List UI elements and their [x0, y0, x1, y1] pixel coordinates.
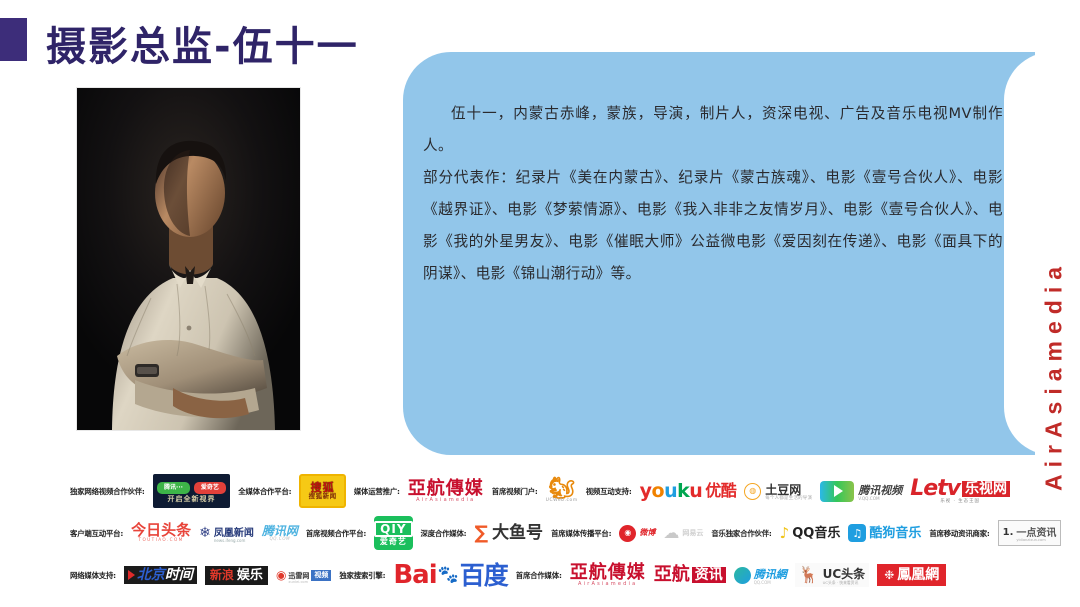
logo-letv-en: Letv	[910, 478, 960, 500]
slide-root: 摄影总监-伍十一	[0, 0, 1080, 607]
partner-row-3: 网络媒体支持: 北京 时间 新浪 娱乐 ◉ 迅雷网 xunlei.com 视频 …	[70, 554, 1010, 596]
phoenix-circle-icon: ❉	[884, 569, 894, 581]
logo-qq-net-row3[interactable]: 腾讯網 QQ.COM	[734, 565, 787, 585]
logo-ifeng[interactable]: ❉ 鳳凰網	[877, 564, 946, 586]
partner-caption: 首席视频合作平台:	[306, 528, 366, 539]
partner-caption: 首席媒体传播平台:	[551, 528, 611, 539]
logo-airasiamedia-subtitle: AirAsiamedia	[416, 498, 475, 503]
bio-paragraph-2: 部分代表作：纪录片《美在内蒙古》、纪录片《蒙古族魂》、电影《壹号合伙人》、电影《…	[423, 162, 1003, 290]
logo-letv[interactable]: Letv 乐视网 乐视 · 生态王国	[910, 478, 1010, 504]
logo-baidu-cn: 百度	[460, 563, 508, 588]
logo-uc-toutiao-subtitle: UC头条 · 快来看资讯	[823, 581, 866, 585]
logo-dayuhao-title: 大鱼号	[492, 525, 543, 542]
weibo-eye-icon: ◉	[619, 525, 636, 542]
logo-ifeng-news-subtitle: news.ifeng.com	[214, 539, 254, 543]
logo-tencent-video-title: 腾讯视频	[858, 484, 902, 497]
logo-letv-cn: 乐视网	[962, 481, 1010, 497]
youku-letter-u: u	[664, 482, 677, 501]
logo-beijing-time[interactable]: 北京 时间	[124, 566, 197, 584]
logo-weibo[interactable]: ◉ 微博	[619, 525, 655, 542]
partner-caption: 独家搜索引擎:	[339, 570, 385, 581]
logo-netease-cloud[interactable]: ☁ 网易云	[663, 525, 703, 541]
logo-toutiao-title: 今日头条	[131, 523, 191, 538]
logo-qq-music-title: QQ音乐	[792, 527, 840, 540]
logo-tudou-title: 土豆网	[765, 483, 801, 497]
logo-airasiamedia-title: 亞航傳媒	[408, 480, 484, 498]
logo-airasiamedia-subtitle: AirAsiamedia	[578, 582, 637, 587]
logo-kugou-title: 酷狗音乐	[869, 527, 921, 540]
logo-airasiamedia-row3[interactable]: 亞航傳媒 AirAsiamedia	[570, 564, 646, 587]
logo-sohu-subtitle: 搜狐新闻	[309, 493, 337, 500]
partner-caption: 媒体运营推广:	[354, 486, 400, 497]
play-triangle-icon	[128, 570, 135, 580]
logo-tudou-subtitle: 每个人都是生活的导演	[765, 497, 812, 501]
logo-qq-net-row2[interactable]: 腾讯网 QQ.COM	[262, 525, 298, 541]
phoenix-icon: ❄	[199, 526, 211, 540]
logo-uc-browser[interactable]: 🐿 UCWeb.com	[546, 478, 578, 503]
logo-kugou-music[interactable]: ♫ 酷狗音乐	[848, 524, 921, 542]
logo-qq-music[interactable]: ♪ QQ音乐	[780, 526, 841, 541]
logo-netease-title: 网易云	[682, 530, 703, 537]
logo-toutiao-subtitle: TOUTIAO.COM	[139, 538, 184, 542]
cloud-icon: ☁	[663, 525, 679, 541]
tudou-face-icon: ◍	[744, 483, 761, 500]
brand-vertical-text: AirAsiamedia	[1034, 170, 1074, 580]
logo-airasiamedia[interactable]: 亞航傳媒 AirAsiamedia	[408, 480, 484, 503]
logo-pill-right: 爱奇艺	[194, 482, 226, 494]
partner-caption: 首席合作媒体:	[516, 570, 562, 581]
logo-qq-net-subtitle: QQ.COM	[270, 537, 291, 541]
logo-youku-cn: 优酷	[705, 483, 736, 499]
bio-text-block: 伍十一，内蒙古赤峰，蒙族，导演，制片人，资深电视、广告及音乐电视MV制作人。 部…	[423, 98, 1003, 290]
partner-caption: 独家网络视频合作伙伴:	[70, 486, 145, 497]
logo-iqiyi-box: QIY	[374, 521, 412, 537]
partner-caption: 音乐独家合作伙伴:	[711, 528, 771, 539]
qq-net-icon	[734, 567, 751, 584]
logo-weibo-title: 微博	[639, 529, 655, 537]
partner-logos: 独家网络视频合作伙伴: 腾讯··· 爱奇艺 开启全新视界 全媒体合作平台: 搜狐…	[70, 470, 1010, 596]
logo-tencent-video-subtitle: V.QQ.COM	[858, 497, 902, 501]
kugou-icon: ♫	[848, 524, 866, 542]
logo-yidian-zixun[interactable]: 1. 一点资讯 yidianzixun.com	[998, 520, 1062, 546]
logo-baidu[interactable]: Bai 🐾 百度	[393, 562, 507, 588]
logo-pill-left: 腾讯···	[157, 482, 190, 494]
logo-airasia-zixun[interactable]: 亞航 资讯	[654, 566, 726, 584]
youku-letter-y: y	[640, 482, 652, 501]
youku-letter-u2: u	[689, 482, 702, 501]
logo-airasia-zixun-a: 亞航	[654, 566, 690, 584]
partner-caption: 深度合作媒体:	[421, 528, 467, 539]
logo-dayuhao[interactable]: ∑ 大鱼号	[474, 524, 543, 543]
dayu-swirl-icon: ∑	[474, 524, 488, 543]
partner-caption: 网络媒体支持:	[70, 570, 116, 581]
baidu-paw-icon: 🐾	[438, 567, 459, 584]
portrait-illustration	[77, 88, 300, 430]
youku-letter-o: o	[652, 482, 665, 501]
logo-letv-subtitle: 乐视 · 生态王国	[940, 500, 980, 504]
logo-youku[interactable]: youku 优酷	[640, 482, 737, 501]
logo-beijing-time-b: 时间	[165, 568, 193, 582]
logo-uc-subtitle: UCWeb.com	[546, 499, 578, 503]
partner-caption: 全媒体合作平台:	[238, 486, 291, 497]
logo-xunlei-title: 迅雷网	[288, 572, 309, 580]
logo-sohu[interactable]: 搜狐 搜狐新闻	[299, 474, 345, 508]
logo-xunlei-box: 视频	[311, 570, 331, 581]
partner-row-2: 客户端互动平台: 今日头条 TOUTIAO.COM ❄ 凤凰新闻 news.if…	[70, 512, 1010, 554]
logo-sina-entertainment[interactable]: 新浪 娱乐	[205, 566, 268, 585]
logo-iqiyi[interactable]: QIY 爱奇艺	[374, 516, 412, 550]
partner-caption: 客户端互动平台:	[70, 528, 123, 539]
logo-uc-toutiao-title: UC头条	[823, 567, 866, 581]
logo-xunlei-subtitle: xunlei.com	[288, 581, 309, 585]
play-icon	[820, 481, 854, 502]
music-note-icon: ♪	[780, 526, 790, 541]
logo-iqiyi-cn: 爱奇艺	[380, 538, 407, 546]
partner-row-1: 独家网络视频合作伙伴: 腾讯··· 爱奇艺 开启全新视界 全媒体合作平台: 搜狐…	[70, 470, 1010, 512]
logo-ifeng-title: 鳳凰網	[897, 568, 939, 582]
logo-yidian-subtitle: yidianzixun.com	[1016, 539, 1056, 543]
logo-airasia-zixun-b: 资讯	[692, 567, 726, 583]
deer-icon: 🦌	[799, 567, 819, 583]
partner-caption: 视频互动支持:	[586, 486, 632, 497]
logo-baidu-en: Bai	[393, 562, 436, 588]
logo-xunlei[interactable]: ◉ 迅雷网 xunlei.com 视频	[276, 565, 331, 585]
xunlei-icon: ◉	[276, 569, 286, 581]
logo-yidian-num: 1.	[1003, 528, 1014, 538]
partner-caption: 首席移动资讯商家:	[929, 528, 989, 539]
portrait-photo	[77, 88, 300, 430]
bio-card: 伍十一，内蒙古赤峰，蒙族，导演，制片人，资深电视、广告及音乐电视MV制作人。 部…	[403, 52, 1035, 455]
logo-toutiao[interactable]: 今日头条 TOUTIAO.COM	[131, 523, 191, 542]
logo-uc-toutiao[interactable]: 🦌 UC头条 UC头条 · 快来看资讯	[795, 563, 869, 587]
page-title: 摄影总监-伍十一	[46, 14, 359, 72]
logo-sina-b: 娱乐	[237, 569, 263, 582]
logo-sina-a: 新浪	[210, 569, 234, 581]
youku-letter-k: k	[677, 482, 689, 501]
logo-beijing-time-a: 北京	[137, 568, 165, 582]
logo-subtitle: 开启全新视界	[167, 496, 215, 503]
logo-ifeng-news[interactable]: ❄ 凤凰新闻 news.ifeng.com	[199, 523, 254, 543]
logo-airasiamedia-title: 亞航傳媒	[570, 564, 646, 582]
logo-qq-net-subtitle: QQ.COM	[754, 581, 787, 585]
title-accent-mark	[0, 18, 27, 61]
uc-squirrel-icon: 🐿	[548, 478, 575, 499]
bio-paragraph-1: 伍十一，内蒙古赤峰，蒙族，导演，制片人，资深电视、广告及音乐电视MV制作人。	[423, 98, 1003, 162]
logo-tencent-video[interactable]: 腾讯视频 V.QQ.COM	[820, 481, 902, 502]
partner-caption: 首席视频门户:	[492, 486, 538, 497]
logo-tudou[interactable]: ◍ 土豆网 每个人都是生活的导演	[744, 481, 812, 501]
logo-quanwang[interactable]: 腾讯··· 爱奇艺 开启全新视界	[153, 474, 231, 508]
